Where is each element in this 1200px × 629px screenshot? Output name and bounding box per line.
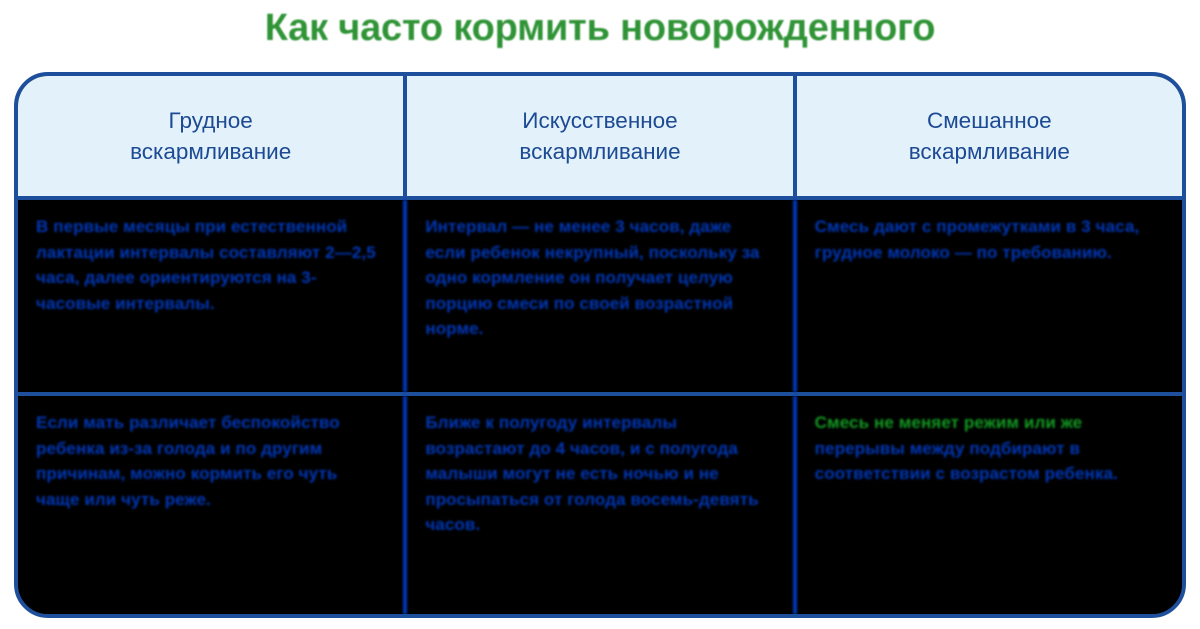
comparison-table: Грудное вскармливание Искусственное вска…	[14, 72, 1186, 618]
table-row: В первые месяцы при естественной лактаци…	[18, 200, 1182, 396]
page-title: Как часто кормить новорожденного	[0, 0, 1200, 56]
table-row: Если мать различает беспокойство ребенка…	[18, 396, 1182, 614]
column-header-mixed-feeding-line2: вскармливание	[909, 136, 1070, 167]
table-header-row: Грудное вскармливание Искусственное вска…	[18, 76, 1182, 200]
column-header-breastfeeding-line1: Грудное	[130, 105, 291, 136]
comparison-table-wrapper: Грудное вскармливание Искусственное вска…	[14, 72, 1186, 618]
column-header-mixed-feeding: Смешанное вскармливание	[797, 76, 1182, 196]
cell-mixed-notes: Смесь не меняет режим или же перерывы ме…	[797, 396, 1182, 614]
column-header-mixed-feeding-line1: Смешанное	[909, 105, 1070, 136]
column-header-breastfeeding: Грудное вскармливание	[18, 76, 407, 196]
cell-breastfeeding-notes: Если мать различает беспокойство ребенка…	[18, 396, 407, 614]
column-header-formula-feeding: Искусственное вскармливание	[407, 76, 796, 196]
column-header-formula-feeding-line2: вскармливание	[519, 136, 680, 167]
column-header-breastfeeding-line2: вскармливание	[130, 136, 291, 167]
cell-formula-intervals: Интервал — не менее 3 часов, даже если р…	[407, 200, 796, 392]
column-header-formula-feeding-line1: Искусственное	[519, 105, 680, 136]
cell-breastfeeding-intervals: В первые месяцы при естественной лактаци…	[18, 200, 407, 392]
cell-mixed-intervals: Смесь дают с промежутками в 3 часа, груд…	[797, 200, 1182, 392]
infographic-root: Как часто кормить новорожденного Грудное…	[0, 0, 1200, 629]
cell-formula-notes: Ближе к полугоду интервалы возрастают до…	[407, 396, 796, 614]
